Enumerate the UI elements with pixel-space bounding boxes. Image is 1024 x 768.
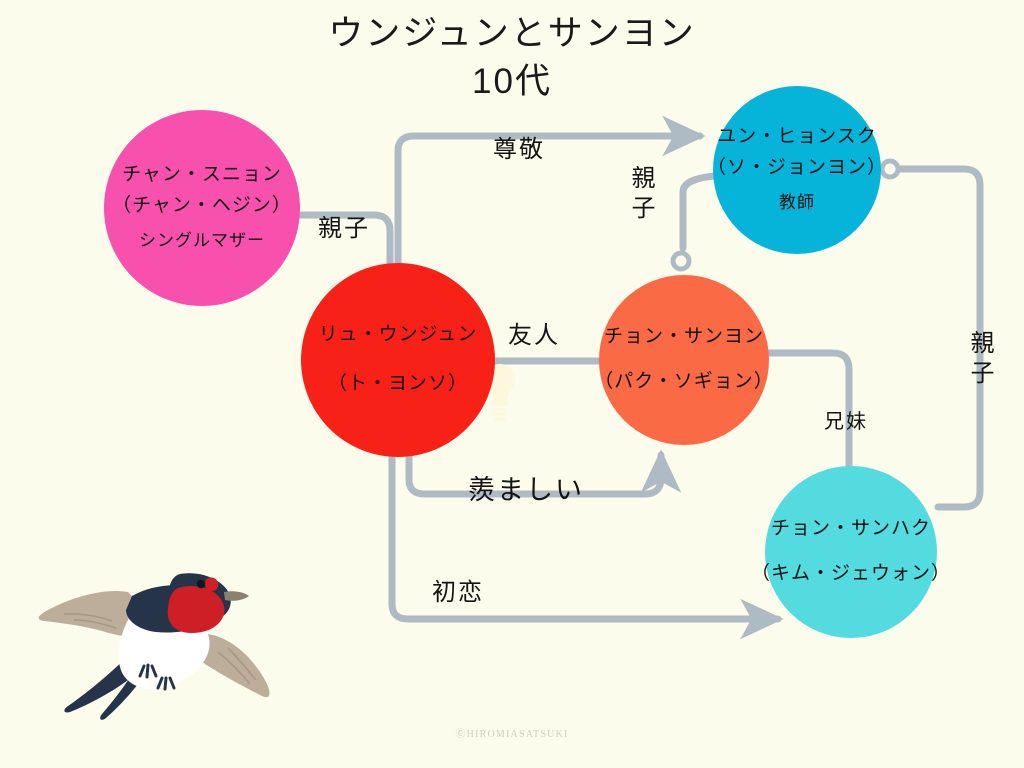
edge-label-oyako-right: 親子 xyxy=(962,330,996,410)
node-sangyeon[interactable]: チョン・サンヨン （パク・ソギョン） xyxy=(599,275,769,445)
node-hyeonsuk-name: ユン・ヒョンスク xyxy=(717,122,877,152)
node-hyeonsuk-role: 教師 xyxy=(779,188,815,218)
edge-label-kyoudai: 兄妹 xyxy=(824,405,868,434)
diagram-canvas: ウンジュンとサンヨン 10代 xyxy=(0,0,1024,768)
edge-label-oyako-left: 親子 xyxy=(318,208,370,243)
node-eunjun[interactable]: リュ・ウンジュン （ト・ヨンソ） xyxy=(301,263,495,457)
swallow-bird-illustration xyxy=(28,548,278,728)
node-sunyeon[interactable]: チャン・スニョン （チャン・ヘジン） シングルマザー xyxy=(104,110,300,306)
node-sanghak-actor: （キム・ジェウォン） xyxy=(751,558,951,590)
node-sunyeon-role: シングルマザー xyxy=(139,226,265,256)
node-sanghak[interactable]: チョン・サンハク （キム・ジェウォン） xyxy=(765,466,937,638)
edge-label-sonkei: 尊敬 xyxy=(493,129,545,164)
node-sunyeon-name: チャン・スニョン xyxy=(122,160,282,190)
node-eunjun-actor: （ト・ヨンソ） xyxy=(328,368,468,400)
node-eunjun-name: リュ・ウンジュン xyxy=(319,320,478,350)
edge-oyako-top-endpoint xyxy=(673,253,689,269)
edge-label-yujin: 友人 xyxy=(508,315,560,350)
copyright-text: ⒸHIROMIASATSUKI xyxy=(0,725,1024,740)
edge-label-urayamashii: 羨ましい xyxy=(468,468,584,507)
node-hyeonsuk[interactable]: ユン・ヒョンスク （ソ・ジョンヨン） 教師 xyxy=(713,86,881,254)
node-hyeonsuk-actor: （ソ・ジョンヨン） xyxy=(707,152,887,184)
edge-label-oyako-top: 親子 xyxy=(623,165,657,245)
edge-label-hatsukoi: 初恋 xyxy=(432,572,484,607)
node-sangyeon-name: チョン・サンヨン xyxy=(604,322,764,352)
node-sangyeon-actor: （パク・ソギョン） xyxy=(594,366,774,398)
node-sanghak-name: チョン・サンハク xyxy=(771,514,931,544)
node-sunyeon-actor: （チャン・ヘジン） xyxy=(112,190,292,222)
